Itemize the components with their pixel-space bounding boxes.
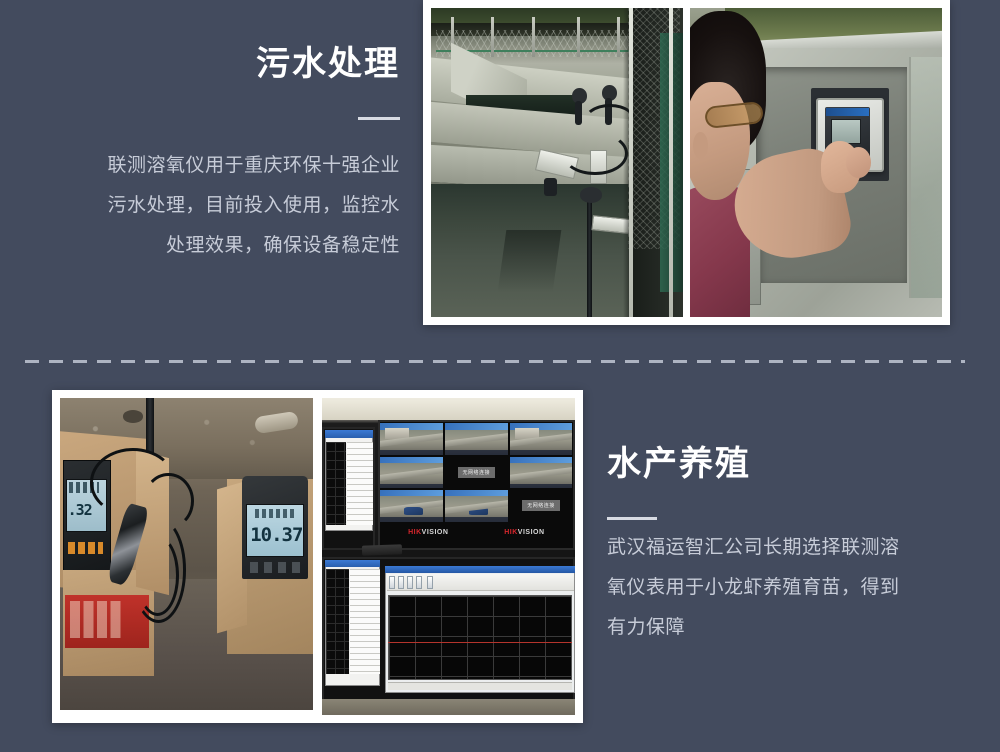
section-title-aquaculture: 水产养殖 bbox=[607, 446, 751, 483]
dissolved-oxygen-meters-photo: .32 10.37 bbox=[60, 398, 313, 710]
section-body-wastewater-treatment: 联测溶氧仪用于重庆环保十强企业 污水处理，目前投入使用，监控水 处理效果，确保设… bbox=[40, 146, 400, 266]
no-signal-label: 无网络连接 bbox=[522, 500, 560, 511]
body-line: 武汉福运智汇公司长期选择联测溶 bbox=[607, 528, 967, 568]
cctv-cell-no-signal: 无网络连接 bbox=[445, 457, 508, 488]
hikvision-logo: HIKHIKVISIONVISION bbox=[408, 529, 448, 536]
technician-cabinet-photo bbox=[690, 8, 942, 317]
body-line: 有力保障 bbox=[607, 608, 967, 648]
cctv-cell bbox=[510, 457, 573, 488]
hikvision-logo-mark: HIK bbox=[504, 529, 518, 536]
hikvision-logo-mark: HIK bbox=[408, 529, 422, 536]
case-showcase-page: 污水处理 联测溶氧仪用于重庆环保十强企业 污水处理，目前投入使用，监控水 处理效… bbox=[0, 0, 1000, 752]
body-line: 污水处理，目前投入使用，监控水 bbox=[40, 186, 400, 226]
section-rule-aquaculture bbox=[607, 517, 657, 520]
no-signal-label: 无网络连接 bbox=[458, 467, 496, 478]
cctv-camera-grid: 无网络连接 无网络连接 bbox=[380, 423, 572, 521]
section-title-wastewater-treatment: 污水处理 bbox=[256, 46, 400, 83]
cctv-cell bbox=[445, 423, 508, 454]
cctv-cell bbox=[445, 490, 508, 521]
cctv-cell bbox=[380, 490, 443, 521]
section-rule-wastewater-treatment bbox=[358, 117, 400, 120]
hikvision-logo: HIKVISION bbox=[504, 529, 544, 536]
wastewater-treatment-tanks-photo bbox=[431, 8, 683, 317]
meter-right-reading: 10.37 bbox=[250, 520, 303, 551]
cctv-cell bbox=[510, 423, 573, 454]
cctv-cell bbox=[380, 423, 443, 454]
dashed-divider bbox=[25, 360, 965, 363]
cctv-cell bbox=[380, 457, 443, 488]
photo-frame-wastewater bbox=[423, 0, 950, 325]
body-line: 氧仪表用于小龙虾养殖育苗，得到 bbox=[607, 568, 967, 608]
section-body-aquaculture: 武汉福运智汇公司长期选择联测溶 氧仪表用于小龙虾养殖育苗，得到 有力保障 bbox=[607, 528, 967, 648]
photo-frame-aquaculture: .32 10.37 bbox=[52, 390, 583, 723]
monitoring-station-photo: 无网络连接 无网络连接 bbox=[322, 398, 575, 715]
cctv-cell-no-signal: 无网络连接 bbox=[510, 490, 573, 521]
body-line: 处理效果，确保设备稳定性 bbox=[40, 226, 400, 266]
body-line: 联测溶氧仪用于重庆环保十强企业 bbox=[40, 146, 400, 186]
